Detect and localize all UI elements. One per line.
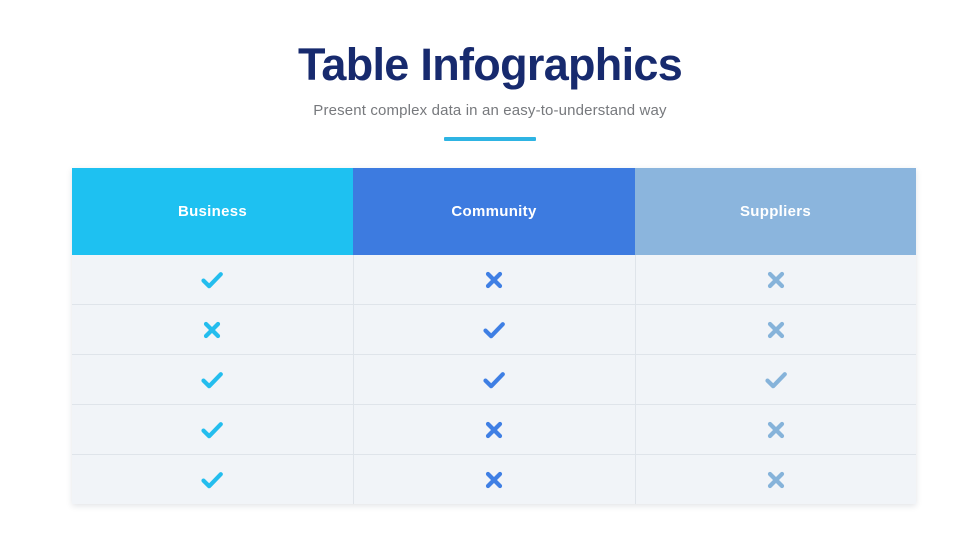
check-icon [72, 405, 353, 454]
table-cell[interactable] [635, 305, 916, 355]
accent-bar [444, 137, 536, 141]
check-icon [636, 355, 917, 404]
table-cell[interactable] [635, 355, 916, 405]
table-cell[interactable] [353, 405, 635, 455]
table-row [72, 305, 916, 355]
table-cell[interactable] [72, 305, 353, 355]
table-row [72, 255, 916, 305]
page-subtitle: Present complex data in an easy-to-under… [0, 92, 980, 121]
check-icon [354, 305, 635, 354]
cross-icon [636, 305, 917, 354]
slide-header: Table Infographics Present complex data … [0, 0, 980, 141]
cross-icon [636, 405, 917, 454]
comparison-table: Business Community Suppliers [72, 168, 916, 504]
comparison-table-container: Business Community Suppliers [72, 168, 916, 504]
check-icon [72, 455, 353, 504]
table-cell[interactable] [353, 455, 635, 505]
table-body [72, 255, 916, 504]
table-cell[interactable] [72, 255, 353, 305]
table-row [72, 405, 916, 455]
table-header-row: Business Community Suppliers [72, 168, 916, 255]
table-cell[interactable] [353, 255, 635, 305]
table-row [72, 355, 916, 405]
column-header-business[interactable]: Business [72, 168, 353, 255]
table-header: Business Community Suppliers [72, 168, 916, 255]
check-icon [72, 355, 353, 404]
page-title: Table Infographics [0, 0, 980, 92]
table-cell[interactable] [72, 455, 353, 505]
table-cell[interactable] [635, 405, 916, 455]
table-cell[interactable] [635, 255, 916, 305]
column-header-community[interactable]: Community [353, 168, 635, 255]
table-cell[interactable] [353, 305, 635, 355]
cross-icon [354, 455, 635, 504]
table-cell[interactable] [635, 455, 916, 505]
cross-icon [354, 405, 635, 454]
table-cell[interactable] [353, 355, 635, 405]
table-cell[interactable] [72, 355, 353, 405]
check-icon [72, 255, 353, 304]
table-cell[interactable] [72, 405, 353, 455]
cross-icon [636, 455, 917, 504]
column-header-suppliers[interactable]: Suppliers [635, 168, 916, 255]
accent-bar-container [0, 121, 980, 141]
table-row [72, 455, 916, 505]
cross-icon [72, 305, 353, 354]
check-icon [354, 355, 635, 404]
cross-icon [354, 255, 635, 304]
cross-icon [636, 255, 917, 304]
